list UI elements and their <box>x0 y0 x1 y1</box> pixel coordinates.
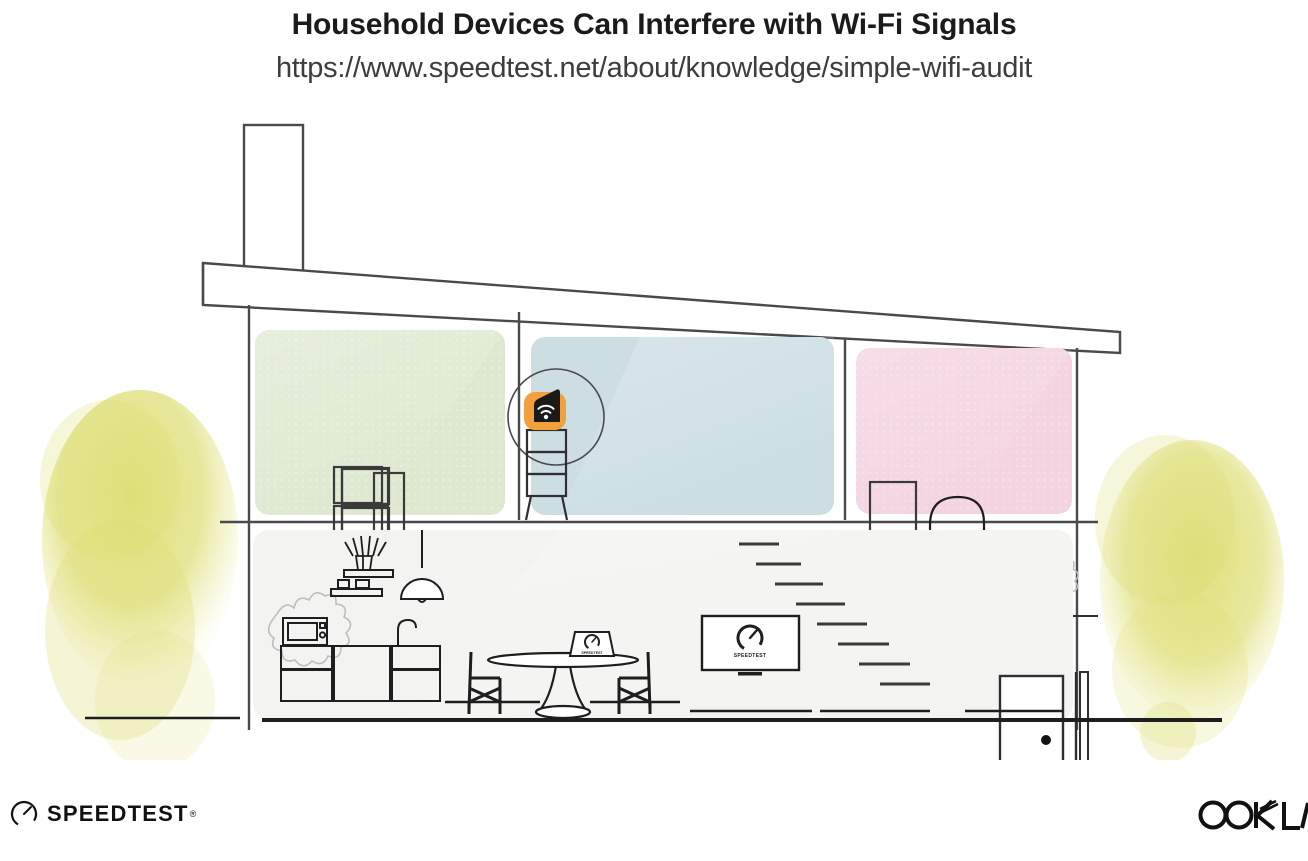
page-url: https://www.speedtest.net/about/knowledg… <box>0 52 1308 85</box>
chimney-icon <box>244 125 303 275</box>
house-illustration: SPEEDTEST <box>0 100 1308 760</box>
router-icon <box>524 389 566 430</box>
foliage-right-icon <box>1095 435 1284 760</box>
tv-brand-label: SPEEDTEST <box>734 653 766 659</box>
laptop-brand-label: SPEEDTEST <box>581 651 603 655</box>
foliage-left-icon <box>40 390 238 760</box>
door-knob-icon <box>1041 735 1051 745</box>
laptop-speedtest-icon: SPEEDTEST <box>570 632 614 656</box>
ookla-wordmark-icon <box>1196 795 1308 835</box>
room-nursery-pink <box>856 348 1072 514</box>
room-living-kitchen <box>253 530 1073 720</box>
page-title: Household Devices Can Interfere with Wi-… <box>0 8 1308 42</box>
page-root: Household Devices Can Interfere with Wi-… <box>0 0 1308 861</box>
speedtest-logo: SPEEDTEST ® <box>10 800 196 828</box>
room-bedroom-green <box>255 330 505 544</box>
speedtest-trademark: ® <box>190 809 197 819</box>
speedtest-wordmark: SPEEDTEST <box>47 801 189 827</box>
ookla-logo <box>1196 795 1308 835</box>
side-window <box>1080 672 1088 760</box>
room-bedroom-blue <box>531 337 834 515</box>
tv-speedtest-icon: SPEEDTEST <box>702 616 799 676</box>
speedtest-gauge-icon <box>10 800 38 828</box>
